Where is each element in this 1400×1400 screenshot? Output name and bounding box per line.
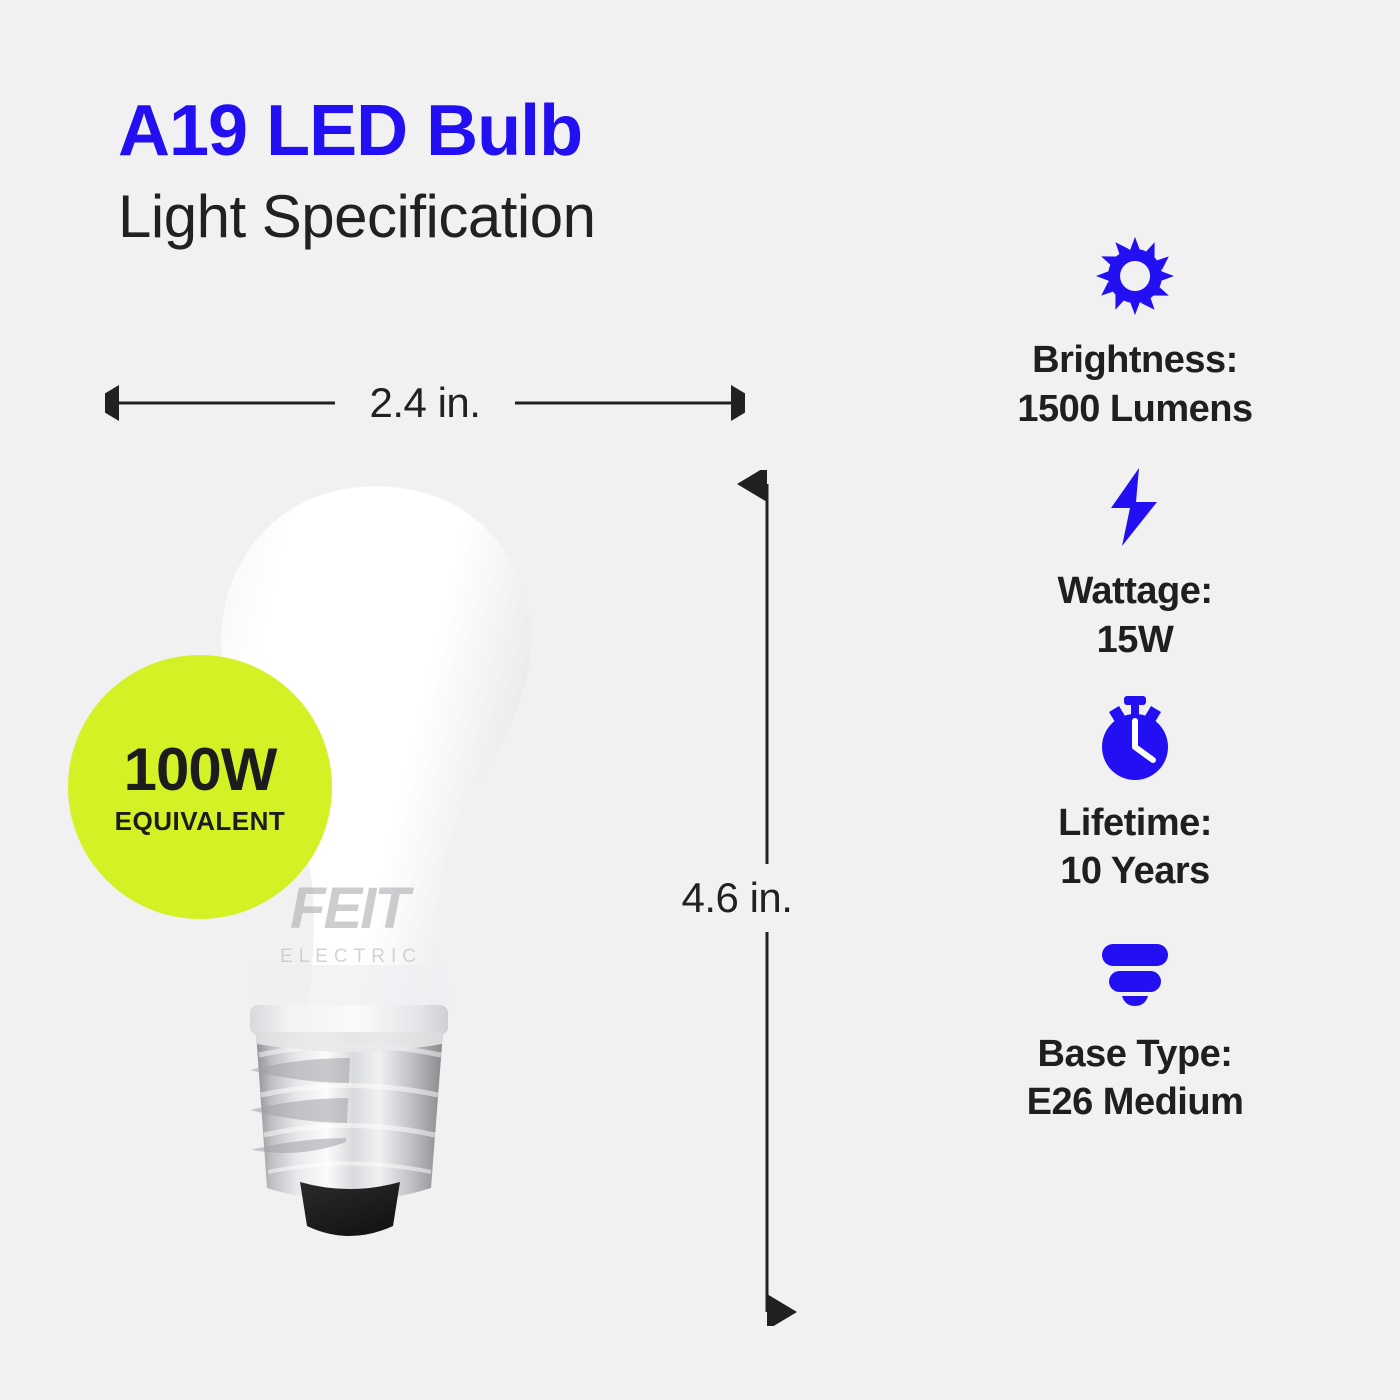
spec-lifetime-text: Lifetime: 10 Years — [1058, 799, 1212, 896]
spec-value: 1500 Lumens — [1017, 385, 1252, 434]
lightning-bolt-icon — [1105, 461, 1165, 553]
spec-value: 15W — [1057, 616, 1212, 665]
spec-sheet-canvas: A19 LED Bulb Light Specification 2.4 in. — [0, 0, 1400, 1400]
spec-list: Brightness: 1500 Lumens Wattage: 15W — [935, 230, 1335, 1155]
page-title: A19 LED Bulb — [118, 95, 595, 167]
spec-brightness-text: Brightness: 1500 Lumens — [1017, 336, 1252, 433]
spec-label: Lifetime: — [1058, 802, 1212, 844]
spec-wattage-text: Wattage: 15W — [1057, 567, 1212, 664]
badge-watts: 100W — [124, 740, 277, 800]
width-dimension-label: 2.4 in. — [105, 374, 745, 432]
svg-text:FEIT: FEIT — [290, 876, 414, 941]
svg-text:ELECTRIC: ELECTRIC — [280, 946, 422, 967]
height-dimension: 4.6 in. — [700, 470, 840, 1326]
page-subtitle: Light Specification — [118, 179, 595, 254]
spec-item-brightness: Brightness: 1500 Lumens — [935, 230, 1335, 433]
spec-label: Brightness: — [1032, 339, 1238, 381]
brand-mark: FEIT ELECTRIC — [280, 876, 422, 967]
spec-label: Base Type: — [1038, 1033, 1233, 1075]
width-dimension: 2.4 in. — [105, 374, 745, 432]
spec-item-base-type: Base Type: E26 Medium — [935, 924, 1335, 1127]
header: A19 LED Bulb Light Specification — [118, 95, 595, 254]
spec-value: 10 Years — [1058, 847, 1212, 896]
spec-base-type-text: Base Type: E26 Medium — [1027, 1030, 1244, 1127]
lamp-base-icon — [1093, 924, 1177, 1016]
spec-item-lifetime: Lifetime: 10 Years — [935, 693, 1335, 896]
sun-icon — [1094, 230, 1176, 322]
height-dimension-label: 4.6 in. — [672, 864, 802, 932]
spec-item-wattage: Wattage: 15W — [935, 461, 1335, 664]
spec-label: Wattage: — [1057, 570, 1212, 612]
stopwatch-icon — [1093, 693, 1177, 785]
badge-equivalent-label: EQUIVALENT — [115, 808, 286, 834]
wattage-equivalent-badge: 100W EQUIVALENT — [68, 655, 332, 919]
spec-value: E26 Medium — [1027, 1078, 1244, 1127]
